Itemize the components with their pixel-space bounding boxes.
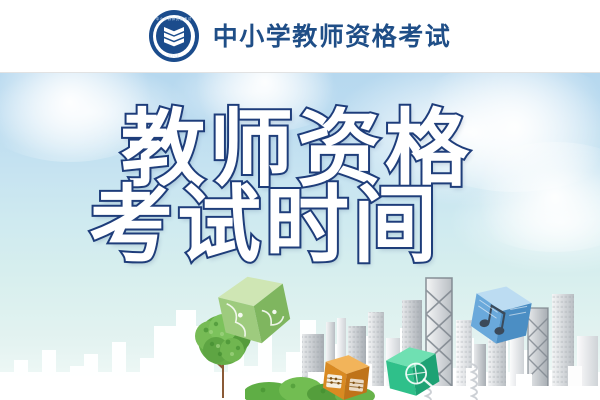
header-inner: 中小学教师资格考试 NTCE 中小学教师资格考试 [149,10,452,62]
ntce-emblem-icon: 中小学教师资格考试 NTCE [149,10,199,62]
emblem-micro-text-top: 中小学教师资格考试 [149,16,199,21]
cube-map-icon [209,265,302,359]
cloud-top-right-icon [400,72,600,192]
cloud-top-center-icon [180,72,350,132]
poster-scene [0,72,600,400]
cube-globe-icon [380,340,446,400]
cube-music-icon [463,277,540,355]
cloud-top-left-icon [0,72,170,162]
site-header: 中小学教师资格考试 NTCE 中小学教师资格考试 [0,0,600,73]
cube-abacus-icon [317,349,374,400]
header-title: 中小学教师资格考试 [213,24,452,49]
cloud-mid-right-icon [460,142,600,252]
spring-coil-icon [470,360,484,400]
poster-root: 中小学教师资格考试 NTCE 中小学教师资格考试 [0,0,600,400]
open-book-icon [162,24,186,48]
emblem-micro-text-bottom: NTCE [149,54,199,58]
